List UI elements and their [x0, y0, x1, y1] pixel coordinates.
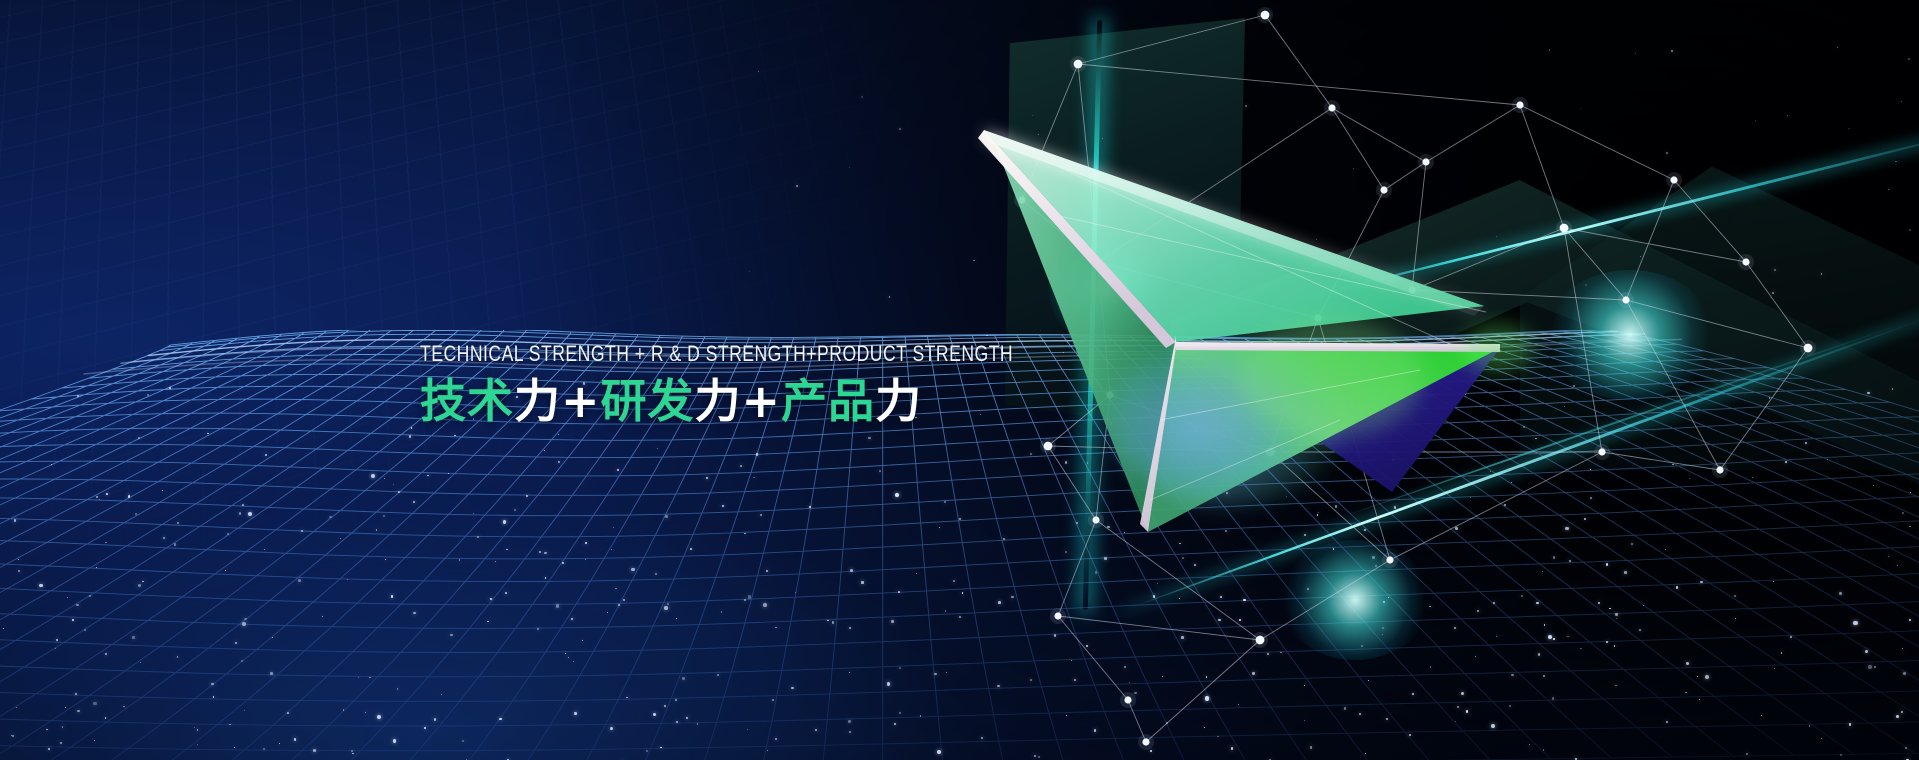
network-node: [1560, 224, 1569, 233]
network-node: [1598, 448, 1605, 455]
network-edge: [1146, 640, 1260, 742]
network-edge: [1602, 452, 1720, 470]
network-edge: [1078, 15, 1265, 64]
network-node: [1142, 738, 1149, 745]
network-edge: [1746, 262, 1808, 348]
network-node: [1716, 466, 1723, 473]
headline-block: TECHNICAL STRENGTH + R & D STRENGTH+PROD…: [420, 343, 1161, 427]
network-node: [1670, 176, 1677, 183]
headline-cn-part-4: 研发: [601, 374, 695, 428]
network-node: [1516, 101, 1523, 108]
headline-cn-part-3: +: [561, 374, 601, 428]
headline-cn-part-2: 力: [514, 374, 561, 428]
network-node: [1074, 60, 1083, 69]
headline-cn-part-6: +: [742, 374, 782, 428]
network-node: [1328, 104, 1335, 111]
network-node: [1742, 258, 1749, 265]
network-edge: [1674, 180, 1746, 262]
network-node: [1256, 636, 1265, 645]
network-edge: [1720, 348, 1808, 470]
headline-cn-part-7: 产品: [781, 374, 875, 428]
network-node: [1622, 296, 1629, 303]
headline-chinese: 技术力+研发力+产品力: [420, 377, 1161, 427]
network-edge: [1564, 228, 1626, 300]
network-node: [1804, 344, 1813, 353]
network-edge: [1564, 228, 1746, 262]
network-edge: [1078, 64, 1520, 105]
network-edge: [1564, 228, 1602, 452]
hero-banner: TECHNICAL STRENGTH + R & D STRENGTH+PROD…: [0, 0, 1919, 760]
network-edge: [1626, 180, 1674, 300]
network-node: [1261, 11, 1270, 20]
headline-cn-part-8: 力: [875, 374, 922, 428]
network-edge: [1265, 15, 1332, 108]
headline-cn-part-5: 力: [695, 374, 742, 428]
headline-cn-part-1: 技术: [420, 374, 514, 428]
network-edge: [1626, 300, 1720, 470]
network-edge: [1058, 616, 1128, 700]
headline-english: TECHNICAL STRENGTH + R & D STRENGTH+PROD…: [420, 343, 1013, 365]
network-node: [1124, 696, 1131, 703]
network-edge: [1626, 300, 1808, 348]
